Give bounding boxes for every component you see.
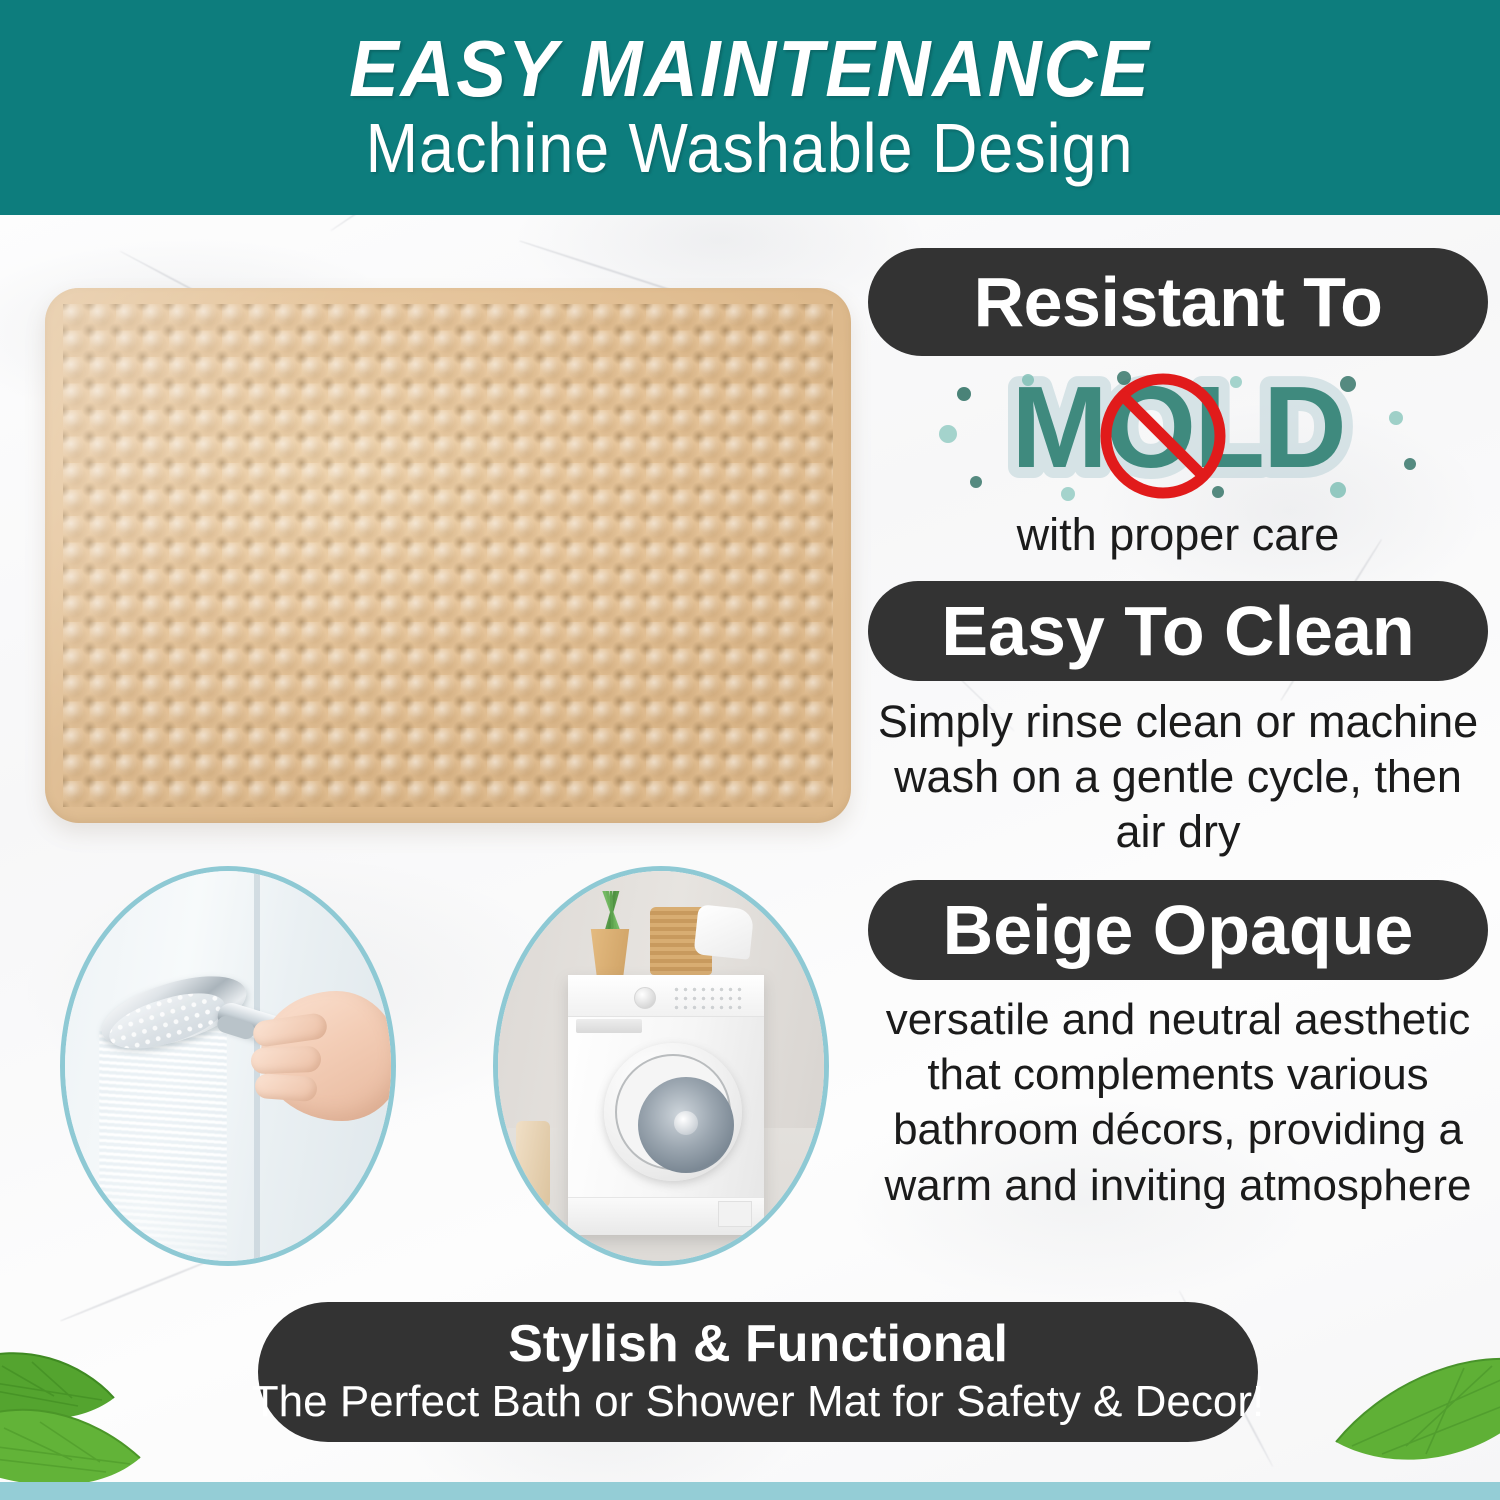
feature-pill-beige-opaque: Beige Opaque xyxy=(868,880,1488,980)
infographic-page: EASY MAINTENANCE Machine Washable Design xyxy=(0,0,1500,1500)
beige-opaque-caption: versatile and neutral aesthetic that com… xyxy=(868,992,1488,1214)
bath-mat-drain-holes xyxy=(63,304,833,807)
paper-roll xyxy=(516,1121,550,1207)
banner-title: Stylish & Functional xyxy=(508,1317,1008,1372)
header-title: EASY MAINTENANCE xyxy=(349,30,1150,108)
washer-filter-hatch xyxy=(718,1201,752,1227)
indicator-lights xyxy=(672,985,744,1011)
feature-pill-easy-to-clean: Easy To Clean xyxy=(868,581,1488,681)
washer-door xyxy=(604,1043,742,1181)
towel xyxy=(694,904,755,960)
control-panel xyxy=(568,975,764,1017)
mold-caption: with proper care xyxy=(868,508,1488,563)
plant-icon xyxy=(590,891,634,933)
feature-column: Resistant To MOLD xyxy=(868,248,1488,1213)
feature-pill-resistant-to: Resistant To xyxy=(868,248,1488,356)
shower-head-rinse-photo xyxy=(60,866,396,1266)
shower-scene xyxy=(65,871,391,1261)
easy-to-clean-caption: Simply rinse clean or machine wash on a … xyxy=(868,695,1488,860)
bath-mat-surface xyxy=(45,288,851,823)
washing-machine-body xyxy=(568,975,764,1235)
bath-mat-product-image xyxy=(45,288,851,823)
mold-word-icon: MOLD xyxy=(918,364,1438,502)
washer-door-rim xyxy=(615,1054,731,1170)
banner-subtitle: The Perfect Bath or Shower Mat for Safet… xyxy=(252,1378,1264,1426)
header-banner: EASY MAINTENANCE Machine Washable Design xyxy=(0,0,1500,215)
finger xyxy=(251,1046,322,1074)
mold-graphic: MOLD xyxy=(868,364,1488,502)
water-stream xyxy=(99,1031,227,1259)
leaf-decor-icon xyxy=(1278,1336,1500,1500)
bottom-banner: Stylish & Functional The Perfect Bath or… xyxy=(258,1302,1258,1442)
detergent-drawer xyxy=(576,1019,642,1033)
finger xyxy=(254,1073,318,1102)
laundry-scene xyxy=(498,871,824,1261)
washer-drum xyxy=(638,1077,734,1173)
leaf-decor-icon xyxy=(0,1322,262,1500)
header-subtitle: Machine Washable Design xyxy=(366,112,1134,186)
washing-machine-photo xyxy=(493,866,829,1266)
program-dial-icon xyxy=(634,987,656,1009)
bottom-accent-band xyxy=(0,1482,1500,1500)
